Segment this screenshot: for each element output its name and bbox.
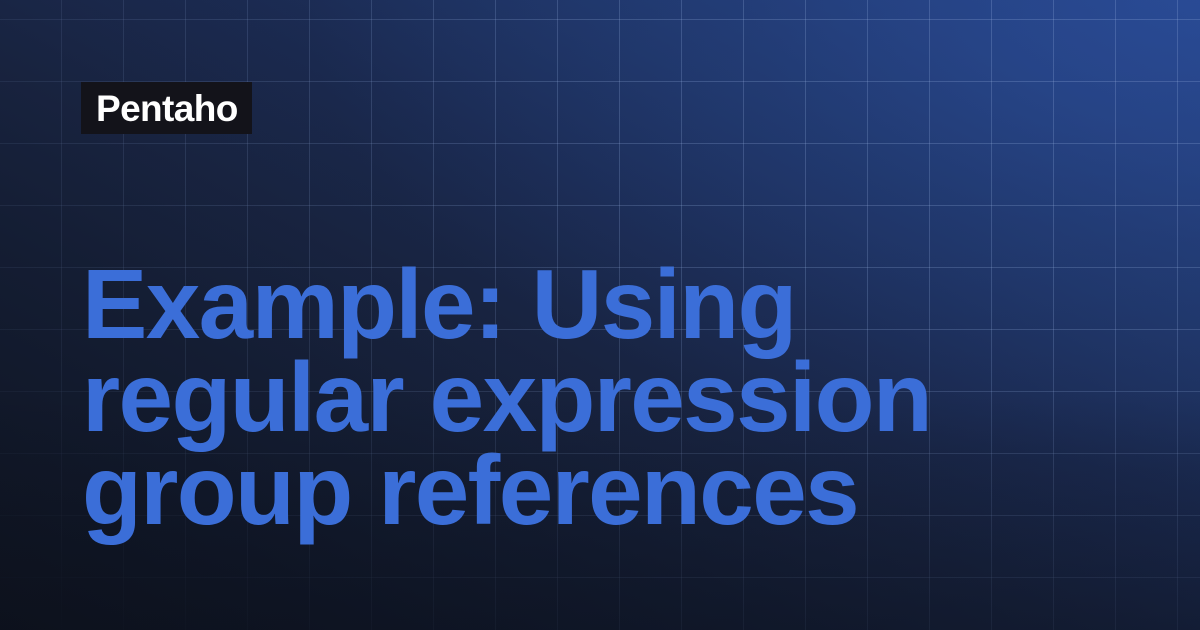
brand-name-text: Pentaho: [96, 90, 238, 127]
brand-logo-badge: Pentaho: [81, 82, 252, 134]
social-card: Pentaho Example: Using regular expressio…: [0, 0, 1200, 630]
card-content: Pentaho Example: Using regular expressio…: [0, 0, 1200, 630]
page-title: Example: Using regular expression group …: [82, 258, 1142, 537]
